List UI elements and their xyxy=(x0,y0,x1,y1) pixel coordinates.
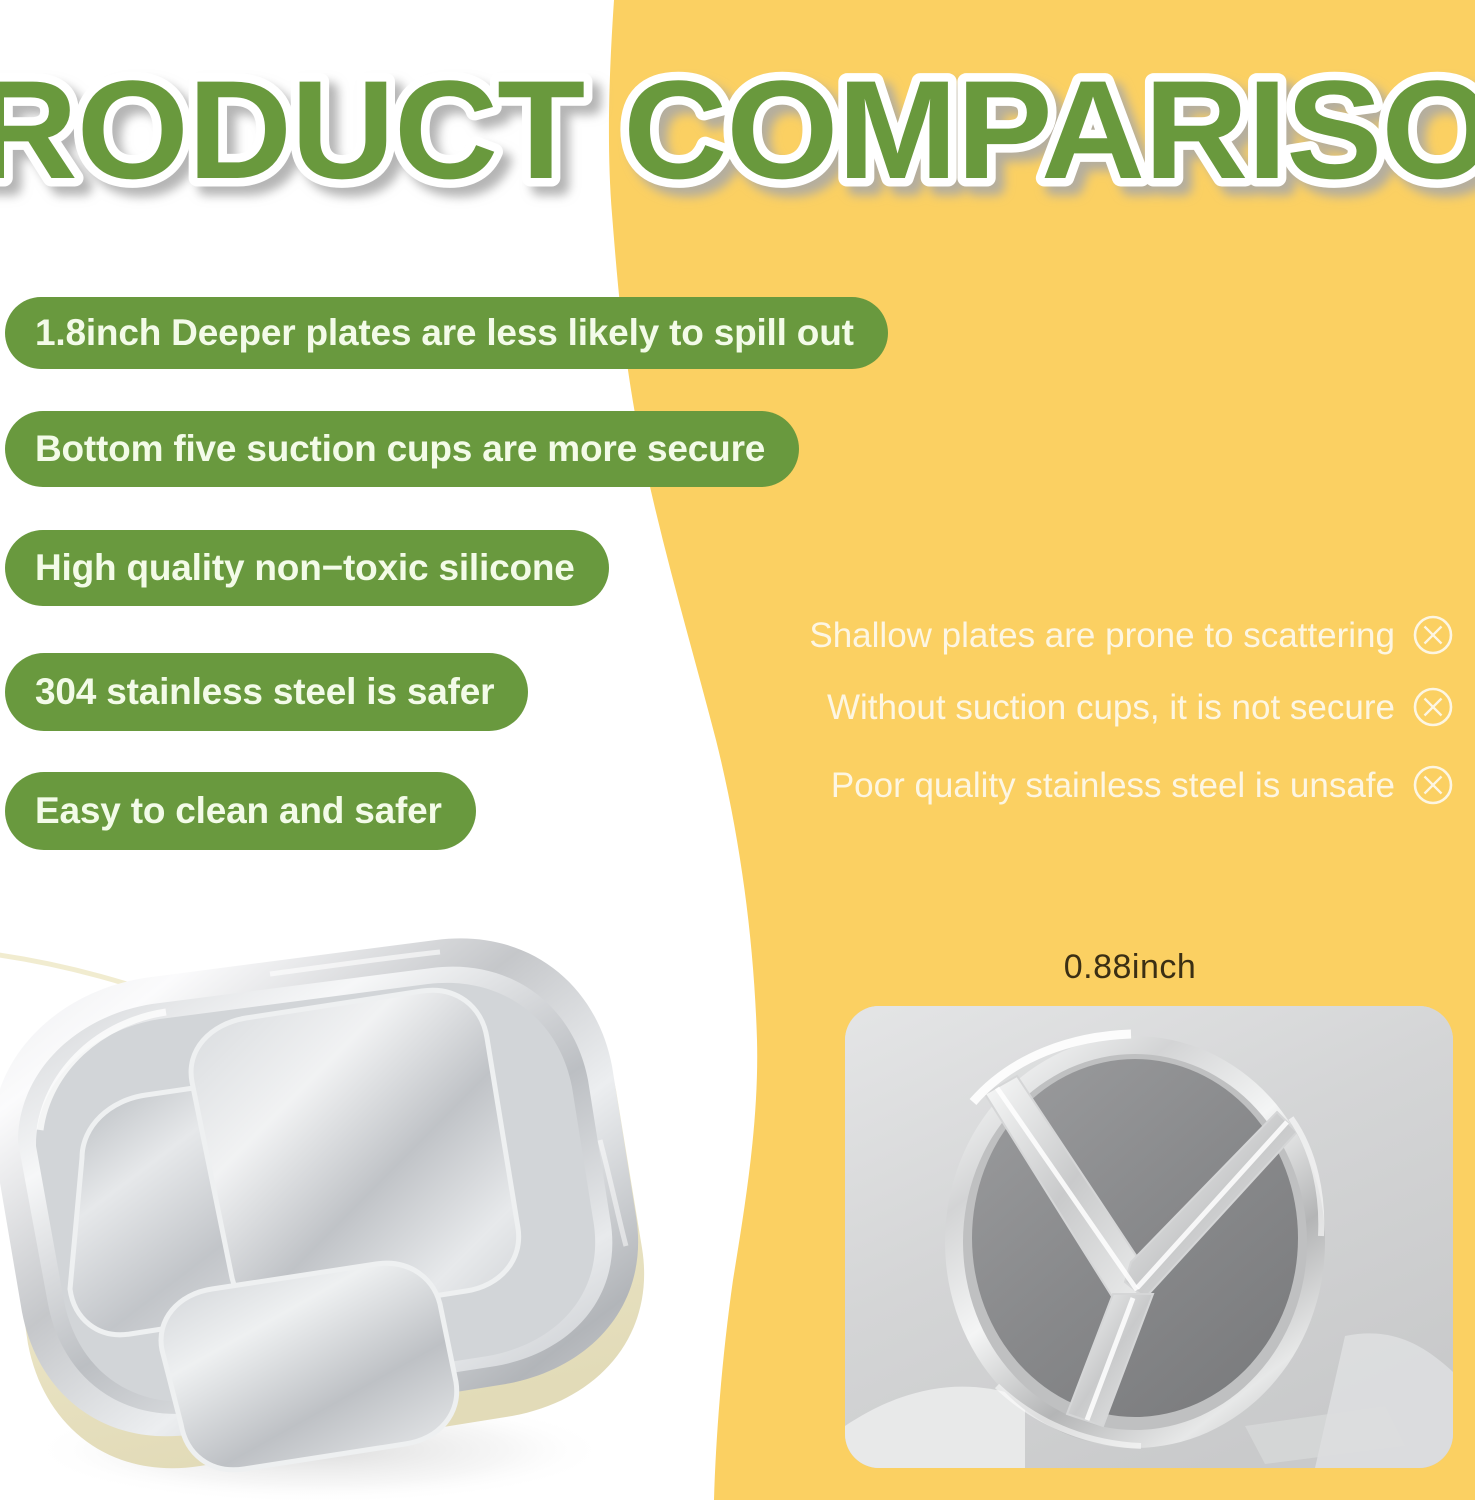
round-shallow-divided-plate-photo xyxy=(845,1006,1453,1468)
page-title: PRODUCT COMPARISON xyxy=(0,46,1475,216)
pro-pill-label: 304 stainless steel is safer xyxy=(35,671,494,713)
con-row-label: Poor quality stainless steel is unsafe xyxy=(831,768,1395,803)
con-row-label: Shallow plates are prone to scattering xyxy=(809,618,1395,653)
page-title-text: PRODUCT COMPARISON xyxy=(0,52,1475,209)
infographic-canvas: PRODUCT COMPARISON 1.8inch Deeper plates… xyxy=(0,0,1475,1500)
circle-x-icon xyxy=(1411,613,1455,657)
pro-pill-label: Bottom five suction cups are more secure xyxy=(35,428,765,470)
circle-x-icon xyxy=(1411,763,1455,807)
pro-pill-5: Easy to clean and safer xyxy=(5,772,476,850)
con-row-label: Without suction cups, it is not secure xyxy=(827,690,1395,725)
pro-pill-3: High quality non−toxic silicone xyxy=(5,530,609,606)
pro-pill-label: High quality non−toxic silicone xyxy=(35,547,575,589)
circle-x-icon xyxy=(1411,685,1455,729)
con-row-1: Shallow plates are prone to scattering xyxy=(809,613,1455,657)
pro-pill-1: 1.8inch Deeper plates are less likely to… xyxy=(5,297,888,369)
pro-pill-label: 1.8inch Deeper plates are less likely to… xyxy=(35,312,854,354)
square-divided-stainless-plate-photo xyxy=(0,930,690,1500)
depth-label: 0.88inch xyxy=(1010,948,1250,987)
pro-pill-2: Bottom five suction cups are more secure xyxy=(5,411,799,487)
pro-pill-label: Easy to clean and safer xyxy=(35,790,442,832)
con-row-2: Without suction cups, it is not secure xyxy=(827,685,1455,729)
con-row-3: Poor quality stainless steel is unsafe xyxy=(831,763,1455,807)
competitor-product-card xyxy=(845,1006,1453,1468)
pro-pill-4: 304 stainless steel is safer xyxy=(5,653,528,731)
